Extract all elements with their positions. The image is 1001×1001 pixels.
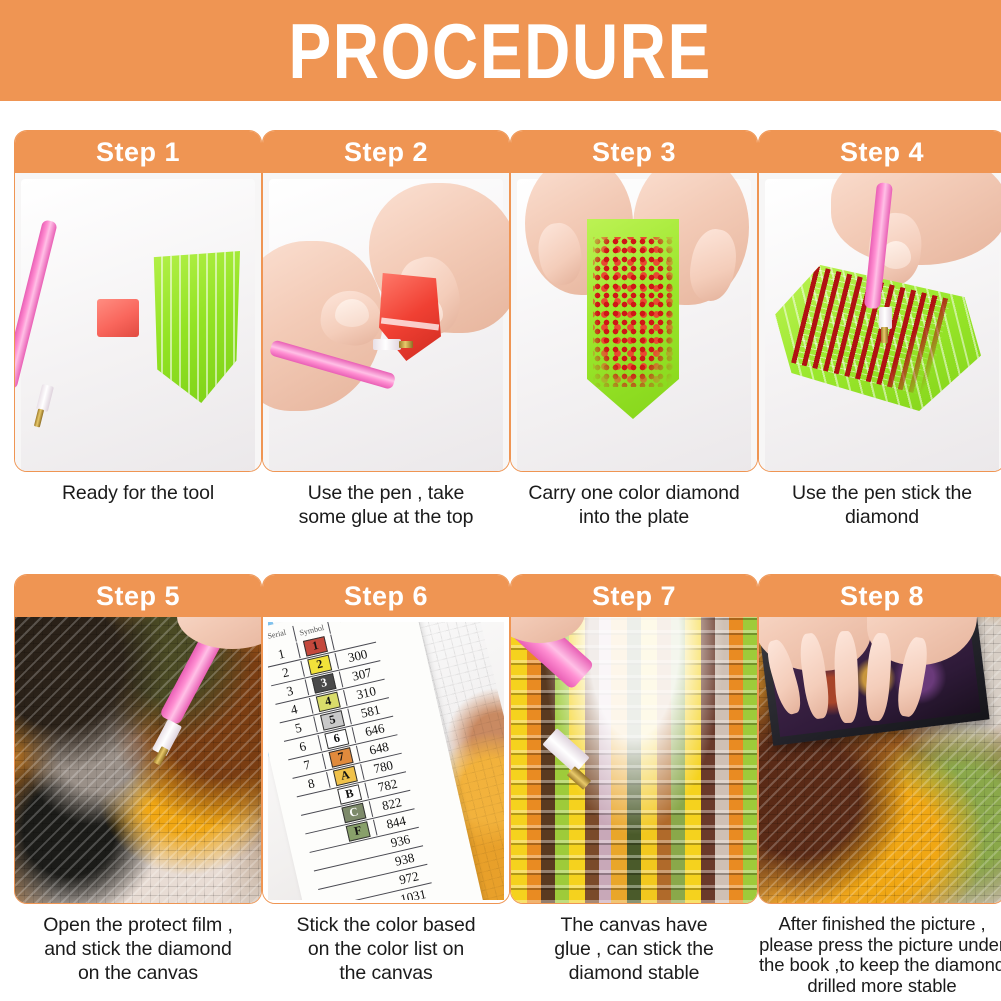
step-card-5: Step 5 bbox=[14, 574, 262, 904]
step-badge-label-8: Step 8 bbox=[840, 583, 924, 610]
step-card-1: Step 1 bbox=[14, 130, 262, 472]
step-cell-1: Step 1 Ready for the tool bbox=[14, 130, 262, 506]
step-badge-label-3: Step 3 bbox=[592, 139, 676, 166]
cell-serial bbox=[308, 835, 342, 843]
cell-symbol bbox=[354, 883, 388, 891]
page-header-banner: PROCEDURE bbox=[0, 0, 1001, 101]
step-cell-4: Step 4 bbox=[758, 130, 1001, 530]
step-photo-4 bbox=[759, 173, 1001, 472]
step-photo-8 bbox=[759, 617, 1001, 904]
fingernail-icon bbox=[335, 299, 369, 327]
step-badge-label-7: Step 7 bbox=[592, 583, 676, 610]
step-badge-2: Step 2 bbox=[263, 131, 509, 173]
step-badge-1: Step 1 bbox=[15, 131, 261, 173]
diamond-tray-icon bbox=[583, 219, 683, 419]
step-photo-5 bbox=[15, 617, 261, 904]
step-badge-label-5: Step 5 bbox=[96, 583, 180, 610]
step-caption-3: Carry one color diamond into the plate bbox=[510, 482, 758, 530]
cell-symbol bbox=[350, 864, 384, 872]
step-badge-5: Step 5 bbox=[15, 575, 261, 617]
cell-serial bbox=[299, 798, 333, 806]
step-card-2: Step 2 bbox=[262, 130, 510, 472]
step-cell-8: Step 8 bbox=[758, 574, 1001, 997]
cell-serial bbox=[320, 891, 354, 899]
step-card-6: Step 6 Serial Symbol bbox=[262, 574, 510, 904]
step-badge-label-4: Step 4 bbox=[840, 139, 924, 166]
step-card-4: Step 4 bbox=[758, 130, 1001, 472]
step-cell-7: Step 7 The canvas have glue , can stick … bbox=[510, 574, 758, 985]
diamond-tray-icon bbox=[152, 251, 240, 403]
step-illustration-4 bbox=[765, 179, 999, 472]
cell-symbol bbox=[346, 846, 380, 854]
cell-dmc bbox=[333, 633, 374, 642]
cell-serial bbox=[312, 854, 346, 862]
step-badge-label-2: Step 2 bbox=[344, 139, 428, 166]
pen-ferrule-icon bbox=[879, 307, 892, 329]
step-cell-5: Step 5 Open the protect film , and stick… bbox=[14, 574, 262, 985]
step-photo-7 bbox=[511, 617, 757, 904]
step-caption-5: Open the protect film , and stick the di… bbox=[14, 914, 262, 985]
step-badge-3: Step 3 bbox=[511, 131, 757, 173]
step-illustration-2 bbox=[269, 179, 503, 472]
step-cell-3: Step 3 Carry one color diamond into bbox=[510, 130, 758, 530]
step-badge-4: Step 4 bbox=[759, 131, 1001, 173]
step-caption-1: Ready for the tool bbox=[14, 482, 262, 506]
step-caption-8: After finished the picture , please pres… bbox=[758, 914, 1001, 997]
pen-body-icon bbox=[15, 219, 58, 390]
color-legend-rows: 112230033307443105558166646776488A780B78… bbox=[268, 624, 436, 900]
step-illustration-7 bbox=[511, 617, 757, 904]
step-illustration-1 bbox=[21, 179, 255, 472]
step-cell-2: Step 2 bbox=[262, 130, 510, 530]
step-badge-label-1: Step 1 bbox=[96, 139, 180, 166]
step-badge-8: Step 8 bbox=[759, 575, 1001, 617]
pen-tip-icon bbox=[34, 409, 44, 428]
step-card-3: Step 3 bbox=[510, 130, 758, 472]
step-photo-2 bbox=[263, 173, 509, 472]
step-caption-2: Use the pen , take some glue at the top bbox=[262, 482, 510, 530]
step-caption-6: Stick the color based on the color list … bbox=[262, 914, 510, 985]
step-card-8: Step 8 bbox=[758, 574, 1001, 904]
pen-tip-icon bbox=[881, 327, 888, 343]
step-illustration-5 bbox=[15, 617, 261, 904]
step-illustration-3 bbox=[517, 179, 751, 472]
pen-ferrule-icon bbox=[373, 339, 401, 350]
step-badge-7: Step 7 bbox=[511, 575, 757, 617]
diamond-beads bbox=[593, 237, 673, 387]
step-badge-6: Step 6 bbox=[263, 575, 509, 617]
step-photo-1 bbox=[15, 173, 261, 472]
steps-grid: Step 1 Ready for the tool bbox=[0, 101, 1001, 1001]
glue-square-icon bbox=[97, 299, 139, 337]
step-illustration-6: Serial Symbol DMC 1122300333074431055581… bbox=[268, 622, 504, 900]
step-photo-6: Serial Symbol DMC 1122300333074431055581… bbox=[263, 617, 509, 904]
step-photo-3 bbox=[511, 173, 757, 472]
step-cell-6: Step 6 Serial Symbol bbox=[262, 574, 510, 985]
step-caption-7: The canvas have glue , can stick the dia… bbox=[510, 914, 758, 985]
step-badge-label-6: Step 6 bbox=[344, 583, 428, 610]
color-legend-table: Serial Symbol DMC 1122300333074431055581… bbox=[268, 622, 436, 900]
step-illustration-8 bbox=[759, 617, 1001, 904]
step-card-7: Step 7 bbox=[510, 574, 758, 904]
cell-serial bbox=[316, 872, 350, 880]
cell-serial bbox=[303, 817, 337, 825]
pen-tip-icon bbox=[399, 341, 413, 348]
step-caption-4: Use the pen stick the diamond bbox=[758, 482, 1001, 530]
page-title: PROCEDURE bbox=[289, 12, 712, 90]
